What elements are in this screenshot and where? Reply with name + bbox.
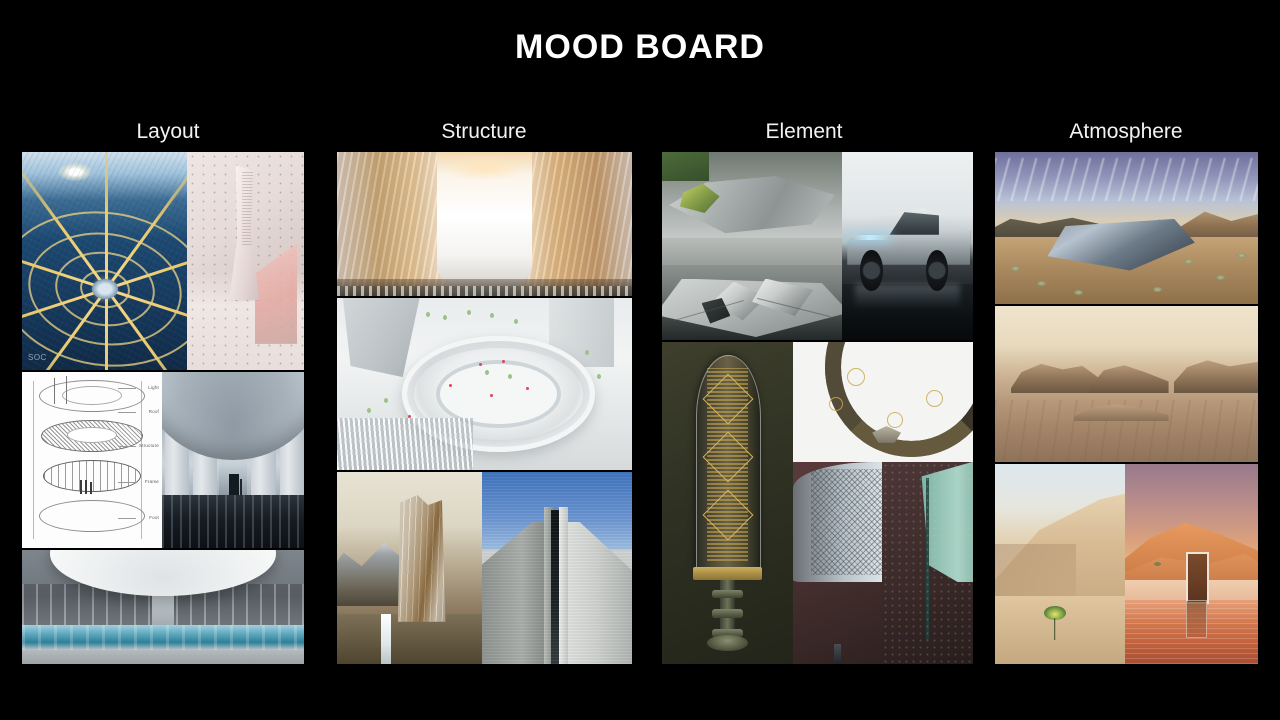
image-concrete-dam-vertical-slot[interactable] (482, 472, 632, 664)
image-folded-origami-model[interactable] (662, 265, 842, 340)
column-structure (337, 152, 632, 664)
image-fluted-warm-interior-portal[interactable] (337, 152, 632, 296)
axon-label: Frame (145, 479, 159, 484)
image-orange-dunes-door-reflection[interactable] (1125, 464, 1258, 664)
axon-label: Roof (149, 409, 159, 414)
image-credit: SOC (28, 353, 47, 362)
standing-door (1186, 552, 1209, 604)
column-header-element: Element (632, 121, 976, 142)
image-faceted-grey-building-model[interactable] (662, 152, 842, 265)
axon-label: Foot (149, 515, 159, 520)
image-row (662, 152, 973, 340)
image-concrete-pavilion-pool[interactable] (22, 550, 304, 664)
image-green-patina-bronze-blade[interactable] (882, 462, 973, 664)
image-white-circular-amphitheatre-model[interactable] (337, 298, 632, 470)
image-silver-angular-truck[interactable] (842, 152, 973, 340)
image-sand-dune-lone-palm[interactable] (995, 464, 1125, 664)
page-title: MOOD BOARD (0, 30, 1280, 64)
image-aerial-radial-city-night[interactable]: SOC (22, 152, 187, 370)
image-row (337, 472, 632, 664)
image-row (995, 464, 1258, 664)
column-element (662, 152, 973, 664)
image-row (995, 152, 1258, 304)
image-row (995, 306, 1258, 462)
column-atmosphere (995, 152, 1258, 664)
column-header-structure: Structure (336, 121, 632, 142)
image-row (337, 152, 632, 296)
column-header-atmosphere: Atmosphere (976, 121, 1276, 142)
image-row (337, 298, 632, 470)
image-gold-inlaid-bronze-dagger[interactable] (662, 342, 793, 664)
image-row (662, 342, 973, 664)
image-row: SOC (22, 152, 304, 370)
image-white-paper-architectural-model[interactable] (187, 152, 304, 370)
image-exploded-axonometric-diagram[interactable]: Light Roof Structure Frame Foot (22, 372, 162, 548)
image-patterned-bronze-blade[interactable] (793, 462, 882, 664)
image-bronze-ring-artifact[interactable] (793, 342, 973, 462)
city-hub (92, 279, 118, 299)
axon-label: Light (148, 385, 159, 390)
image-desert-valley-rock-outcrops[interactable] (995, 306, 1258, 462)
image-row: Light Roof Structure Frame Foot (22, 372, 304, 548)
image-concrete-interior-dome-water[interactable] (162, 372, 304, 548)
image-row (22, 550, 304, 664)
axon-label: Structure (139, 443, 159, 448)
column-layout: SOC (22, 152, 304, 664)
image-desert-metal-monolith[interactable] (995, 152, 1258, 304)
column-header-layout: Layout (0, 121, 336, 142)
image-monolith-tower-landscape[interactable] (337, 472, 482, 664)
